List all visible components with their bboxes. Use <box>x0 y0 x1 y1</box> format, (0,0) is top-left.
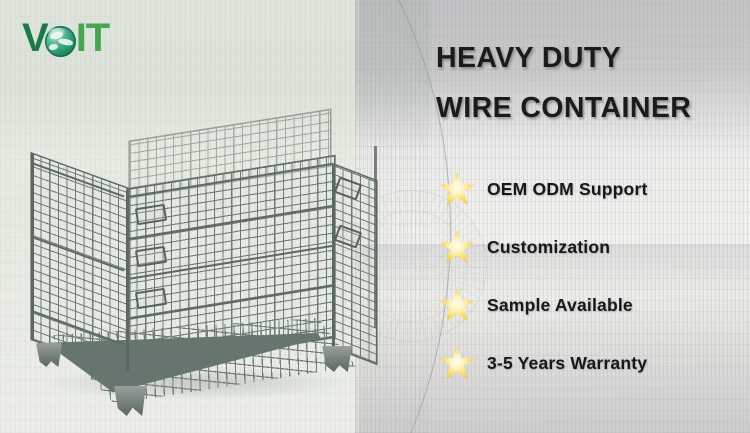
brand-logo[interactable]: V IT <box>22 17 109 59</box>
feature-label: Sample Available <box>487 295 633 316</box>
logo-letter-v: V <box>22 18 48 58</box>
star-icon <box>440 230 474 264</box>
feature-label: OEM ODM Support <box>487 179 647 200</box>
headline-block: HEAVY DUTY WIRE CONTAINER <box>436 44 736 122</box>
product-banner: V IT HEAVY DUTY WIRE CONTAINER OEM ODM S… <box>0 0 750 433</box>
feature-label: Customization <box>487 237 610 258</box>
product-image-wire-container <box>18 128 378 418</box>
list-item: 3-5 Years Warranty <box>440 334 647 392</box>
headline-line-1: HEAVY DUTY <box>436 44 736 73</box>
star-icon <box>440 346 474 380</box>
list-item: Customization <box>440 218 647 276</box>
container-foot <box>114 386 146 416</box>
container-corner-post <box>31 154 34 340</box>
logo-letters-it: IT <box>76 18 110 58</box>
star-icon <box>440 288 474 322</box>
container-foot <box>36 343 62 367</box>
list-item: OEM ODM Support <box>440 160 647 218</box>
feature-label: 3-5 Years Warranty <box>487 353 647 374</box>
globe-icon <box>45 26 76 57</box>
container-corner-post <box>374 146 377 328</box>
headline-line-2: WIRE CONTAINER <box>436 94 736 123</box>
feature-list: OEM ODM Support Customization Sample Ava… <box>440 160 647 392</box>
container-corner-post <box>126 190 129 372</box>
star-icon <box>440 172 474 206</box>
list-item: Sample Available <box>440 276 647 334</box>
